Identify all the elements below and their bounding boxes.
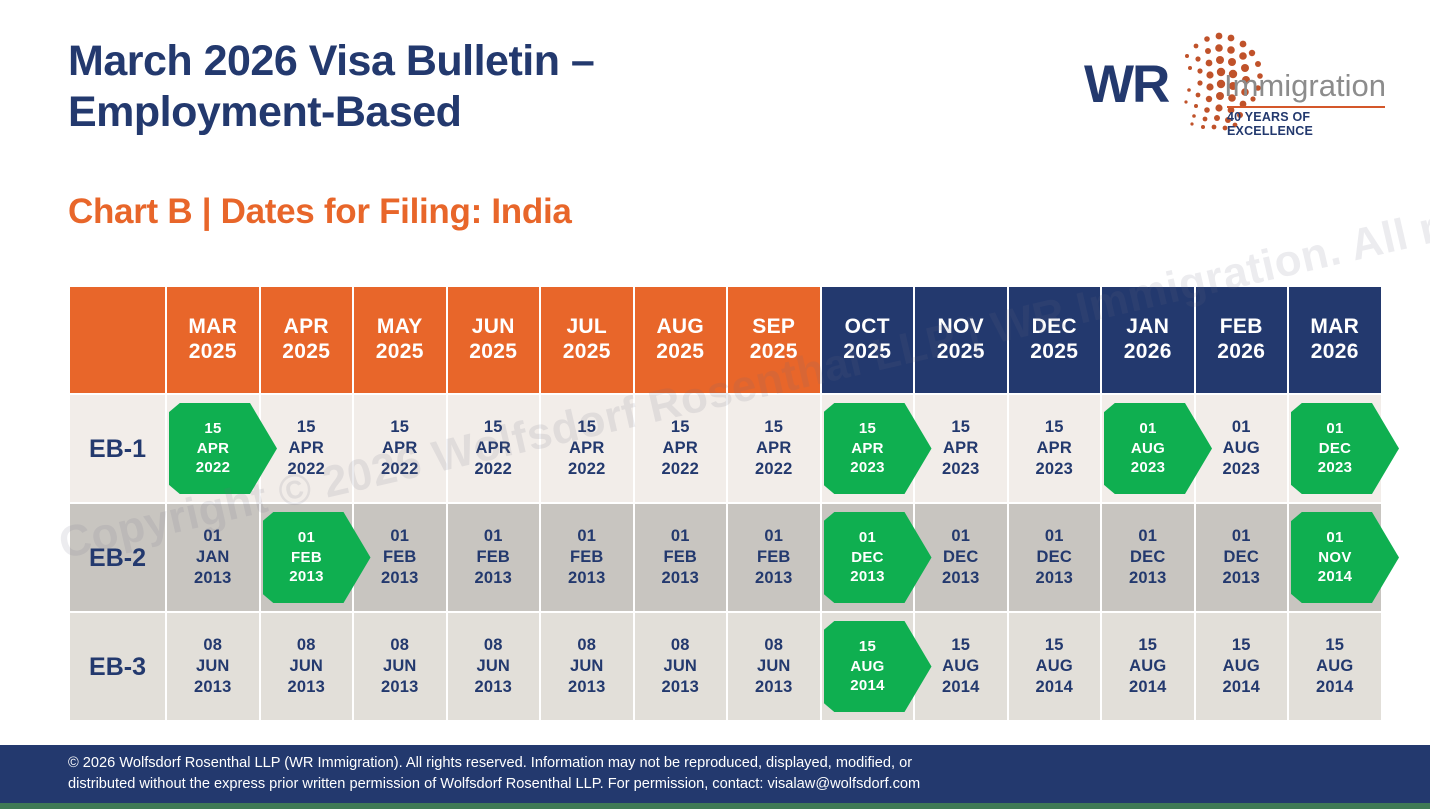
column-header-may-2025[interactable]: MAY2025 — [354, 287, 446, 393]
date-value: 01FEB2013 — [448, 504, 540, 611]
date-day: 15 — [951, 635, 970, 656]
date-day: 15 — [204, 419, 221, 439]
date-year: 2022 — [287, 459, 325, 480]
date-year: 2023 — [1318, 458, 1353, 478]
date-cell[interactable]: 15APR2022 — [728, 395, 820, 502]
date-cell[interactable]: 08JUN2013 — [261, 613, 353, 720]
date-day: 15 — [1325, 635, 1344, 656]
date-value: 15AUG2014 — [1289, 613, 1381, 720]
table-header: MAR2025APR2025MAY2025JUN2025JUL2025AUG20… — [70, 287, 1381, 393]
date-month: FEB — [757, 547, 791, 568]
date-year: 2013 — [194, 677, 232, 698]
date-day: 08 — [297, 635, 316, 656]
column-header-month: MAR — [1289, 315, 1381, 340]
date-cell[interactable]: 01JAN2013 — [167, 504, 259, 611]
date-value: 08JUN2013 — [354, 613, 446, 720]
table-body: EB-115APR202215APR202215APR202215APR2022… — [70, 395, 1381, 720]
date-year: 2014 — [850, 676, 885, 696]
date-day: 08 — [484, 635, 503, 656]
date-year: 2013 — [289, 567, 324, 587]
date-day: 01 — [1232, 417, 1251, 438]
wr-immigration-logo: WR Immigration 40 YEARS OF EXCELLENCE — [1064, 26, 1384, 138]
column-header-feb-2026[interactable]: FEB2026 — [1196, 287, 1288, 393]
column-header-jan-2026[interactable]: JAN2026 — [1102, 287, 1194, 393]
column-header-month: APR — [261, 315, 353, 340]
date-day: 01 — [484, 526, 503, 547]
date-value: 15APR2022 — [354, 395, 446, 502]
column-header-month: NOV — [915, 315, 1007, 340]
date-year: 2014 — [1129, 677, 1167, 698]
date-day: 01 — [1045, 526, 1064, 547]
date-month: JUN — [663, 656, 697, 677]
table-row: EB-201JAN201301FEB201301FEB201301FEB2013… — [70, 504, 1381, 611]
column-header-month: JAN — [1102, 315, 1194, 340]
date-cell[interactable]: 01AUG2023 — [1102, 395, 1194, 502]
date-cell[interactable]: 15APR2022 — [448, 395, 540, 502]
date-year: 2013 — [381, 677, 419, 698]
date-day: 01 — [203, 526, 222, 547]
date-day: 01 — [1326, 419, 1343, 439]
date-day: 01 — [1232, 526, 1251, 547]
date-year: 2023 — [1131, 458, 1166, 478]
date-day: 15 — [951, 417, 970, 438]
date-cell[interactable]: 08JUN2013 — [448, 613, 540, 720]
date-month: AUG — [1223, 438, 1260, 459]
date-year: 2014 — [1222, 677, 1260, 698]
date-year: 2014 — [1318, 567, 1353, 587]
column-header-year: 2026 — [1102, 340, 1194, 365]
date-year: 2022 — [381, 459, 419, 480]
date-cell[interactable]: 15AUG2014 — [822, 613, 914, 720]
date-month: APR — [197, 439, 230, 459]
date-year: 2013 — [661, 677, 699, 698]
table-corner-cell — [70, 287, 165, 393]
date-day: 15 — [764, 417, 783, 438]
date-year: 2013 — [661, 568, 699, 589]
date-value: 15APR2022 — [541, 395, 633, 502]
logo-tagline: 40 YEARS OF EXCELLENCE — [1227, 110, 1384, 138]
row-label-eb-2: EB-2 — [70, 504, 165, 611]
date-value: 01DEC2013 — [1196, 504, 1288, 611]
column-header-month: MAY — [354, 315, 446, 340]
date-year: 2013 — [1129, 568, 1167, 589]
date-day: 01 — [298, 528, 315, 548]
column-header-year: 2025 — [261, 340, 353, 365]
column-header-month: MAR — [167, 315, 259, 340]
date-month: APR — [289, 438, 324, 459]
date-year: 2014 — [1316, 677, 1354, 698]
date-day: 15 — [1232, 635, 1251, 656]
date-month: FEB — [291, 548, 322, 568]
column-header-month: JUN — [448, 315, 540, 340]
advancement-arrow-badge: 01NOV2014 — [1291, 512, 1399, 603]
date-cell[interactable]: 08JUN2013 — [635, 613, 727, 720]
date-year: 2013 — [474, 677, 512, 698]
column-header-apr-2025[interactable]: APR2025 — [261, 287, 353, 393]
column-header-jun-2025[interactable]: JUN2025 — [448, 287, 540, 393]
date-value: 01FEB2013 — [541, 504, 633, 611]
date-value: 01DEC2013 — [1009, 504, 1101, 611]
date-cell[interactable]: 15APR2022 — [167, 395, 259, 502]
date-day: 01 — [390, 526, 409, 547]
date-cell[interactable]: 15AUG2014 — [1196, 613, 1288, 720]
date-value: 15APR2022 — [635, 395, 727, 502]
date-month: AUG — [1036, 656, 1073, 677]
date-cell[interactable]: 15APR2022 — [354, 395, 446, 502]
date-value: 08JUN2013 — [635, 613, 727, 720]
date-month: JUN — [476, 656, 510, 677]
date-cell[interactable]: 01DEC2013 — [1009, 504, 1101, 611]
date-cell[interactable]: 08JUN2013 — [167, 613, 259, 720]
column-header-year: 2025 — [635, 340, 727, 365]
column-header-month: JUL — [541, 315, 633, 340]
date-month: DEC — [1037, 547, 1072, 568]
date-year: 2013 — [568, 568, 606, 589]
date-value: 01DEC2013 — [1102, 504, 1194, 611]
column-header-year: 2026 — [1289, 340, 1381, 365]
date-cell[interactable]: 15AUG2014 — [1009, 613, 1101, 720]
date-cell[interactable]: 08JUN2013 — [728, 613, 820, 720]
row-label-eb-3: EB-3 — [70, 613, 165, 720]
date-day: 01 — [577, 526, 596, 547]
column-header-year: 2025 — [915, 340, 1007, 365]
date-month: AUG — [942, 656, 979, 677]
page-title-line1: March 2026 Visa Bulletin – — [68, 36, 828, 87]
date-day: 01 — [1138, 526, 1157, 547]
date-year: 2013 — [194, 568, 232, 589]
date-value: 08JUN2013 — [448, 613, 540, 720]
date-month: JUN — [570, 656, 604, 677]
date-day: 15 — [1045, 417, 1064, 438]
column-header-aug-2025[interactable]: AUG2025 — [635, 287, 727, 393]
date-cell[interactable]: 01FEB2013 — [541, 504, 633, 611]
date-month: NOV — [1318, 548, 1351, 568]
date-day: 01 — [1326, 528, 1343, 548]
date-year: 2013 — [287, 677, 325, 698]
date-month: JUN — [757, 656, 791, 677]
column-header-year: 2025 — [167, 340, 259, 365]
table-row: EB-115APR202215APR202215APR202215APR2022… — [70, 395, 1381, 502]
column-header-year: 2025 — [448, 340, 540, 365]
date-month: FEB — [383, 547, 417, 568]
date-day: 15 — [1138, 635, 1157, 656]
date-day: 01 — [1139, 419, 1156, 439]
date-value: 01FEB2013 — [635, 504, 727, 611]
column-header-oct-2025[interactable]: OCT2025 — [822, 287, 914, 393]
date-year: 2022 — [661, 459, 699, 480]
page-title: March 2026 Visa Bulletin – Employment-Ba… — [68, 36, 828, 137]
date-year: 2013 — [1035, 568, 1073, 589]
column-header-year: 2026 — [1196, 340, 1288, 365]
date-month: APR — [943, 438, 978, 459]
date-year: 2022 — [196, 458, 231, 478]
column-header-nov-2025[interactable]: NOV2025 — [915, 287, 1007, 393]
date-month: APR — [663, 438, 698, 459]
column-header-month: OCT — [822, 315, 914, 340]
column-header-year: 2025 — [354, 340, 446, 365]
date-value: 15AUG2014 — [1009, 613, 1101, 720]
footer-bar: © 2026 Wolfsdorf Rosenthal LLP (WR Immig… — [0, 745, 1430, 803]
date-year: 2013 — [381, 568, 419, 589]
date-month: APR — [569, 438, 604, 459]
date-cell[interactable]: 08JUN2013 — [541, 613, 633, 720]
logo-wordmark: WR — [1084, 54, 1168, 115]
date-day: 08 — [764, 635, 783, 656]
date-value: 08JUN2013 — [261, 613, 353, 720]
date-cell[interactable]: 01FEB2013 — [635, 504, 727, 611]
date-cell[interactable]: 01FEB2013 — [448, 504, 540, 611]
date-value: 08JUN2013 — [167, 613, 259, 720]
date-month: JUN — [196, 656, 230, 677]
date-year: 2013 — [1222, 568, 1260, 589]
footer-accent-strip — [0, 803, 1430, 809]
column-header-sep-2025[interactable]: SEP2025 — [728, 287, 820, 393]
date-month: APR — [1037, 438, 1072, 459]
table-row: EB-308JUN201308JUN201308JUN201308JUN2013… — [70, 613, 1381, 720]
date-day: 08 — [671, 635, 690, 656]
date-year: 2023 — [942, 459, 980, 480]
date-year: 2013 — [942, 568, 980, 589]
date-value: 15APR2023 — [1009, 395, 1101, 502]
date-cell[interactable]: 15AUG2014 — [1289, 613, 1381, 720]
date-day: 15 — [577, 417, 596, 438]
logo-divider — [1227, 106, 1385, 108]
date-month: APR — [382, 438, 417, 459]
date-month: DEC — [1224, 547, 1259, 568]
date-cell[interactable]: 01DEC2013 — [1196, 504, 1288, 611]
date-year: 2013 — [568, 677, 606, 698]
date-cell[interactable]: 15APR2022 — [635, 395, 727, 502]
date-cell[interactable]: 15APR2023 — [1009, 395, 1101, 502]
date-month: AUG — [1131, 439, 1165, 459]
date-month: AUG — [1316, 656, 1353, 677]
date-value: 01JAN2013 — [167, 504, 259, 611]
date-day: 01 — [951, 526, 970, 547]
date-day: 01 — [764, 526, 783, 547]
date-month: APR — [756, 438, 791, 459]
date-day: 15 — [297, 417, 316, 438]
date-day: 15 — [1045, 635, 1064, 656]
date-year: 2013 — [755, 677, 793, 698]
date-month: DEC — [1130, 547, 1165, 568]
column-header-mar-2025[interactable]: MAR2025 — [167, 287, 259, 393]
date-month: JUN — [289, 656, 323, 677]
page-title-line2: Employment-Based — [68, 87, 828, 138]
date-day: 08 — [203, 635, 222, 656]
logo-name: Immigration — [1224, 68, 1386, 104]
date-day: 08 — [390, 635, 409, 656]
date-year: 2023 — [1035, 459, 1073, 480]
date-cell[interactable]: 01DEC2013 — [822, 504, 914, 611]
date-value: 15AUG2014 — [1196, 613, 1288, 720]
date-cell[interactable]: 15APR2022 — [541, 395, 633, 502]
date-cell[interactable]: 01NOV2014 — [1289, 504, 1381, 611]
column-header-month: FEB — [1196, 315, 1288, 340]
date-year: 2013 — [474, 568, 512, 589]
date-month: JAN — [196, 547, 230, 568]
column-header-jul-2025[interactable]: JUL2025 — [541, 287, 633, 393]
date-day: 15 — [390, 417, 409, 438]
date-cell[interactable]: 15AUG2014 — [1102, 613, 1194, 720]
date-month: DEC — [943, 547, 978, 568]
date-month: FEB — [663, 547, 697, 568]
footer-line-2: distributed without the express prior wr… — [68, 774, 920, 795]
date-value: 15APR2022 — [448, 395, 540, 502]
date-cell[interactable]: 01FEB2013 — [261, 504, 353, 611]
footer-disclaimer: © 2026 Wolfsdorf Rosenthal LLP (WR Immig… — [0, 753, 960, 794]
footer-line-1: © 2026 Wolfsdorf Rosenthal LLP (WR Immig… — [68, 753, 920, 774]
column-header-month: DEC — [1009, 315, 1101, 340]
date-year: 2014 — [942, 677, 980, 698]
column-header-year: 2025 — [541, 340, 633, 365]
date-cell[interactable]: 01FEB2013 — [728, 504, 820, 611]
advancement-arrow-badge: 01DEC2023 — [1291, 403, 1399, 494]
date-year: 2013 — [755, 568, 793, 589]
date-month: FEB — [570, 547, 604, 568]
date-year: 2023 — [1222, 459, 1260, 480]
date-month: AUG — [1129, 656, 1166, 677]
date-month: APR — [851, 439, 884, 459]
date-month: AUG — [850, 657, 884, 677]
date-month: JUN — [383, 656, 417, 677]
visa-bulletin-table: MAR2025APR2025MAY2025JUN2025JUL2025AUG20… — [68, 285, 1383, 722]
date-value: 01FEB2013 — [728, 504, 820, 611]
column-header-year: 2025 — [822, 340, 914, 365]
column-header-month: SEP — [728, 315, 820, 340]
date-cell[interactable]: 15APR2023 — [822, 395, 914, 502]
date-day: 15 — [859, 637, 876, 657]
date-year: 2022 — [755, 459, 793, 480]
row-label-eb-1: EB-1 — [70, 395, 165, 502]
date-year: 2023 — [850, 458, 885, 478]
column-header-year: 2025 — [728, 340, 820, 365]
date-month: FEB — [476, 547, 510, 568]
date-month: APR — [476, 438, 511, 459]
date-month: DEC — [851, 548, 884, 568]
date-year: 2013 — [850, 567, 885, 587]
date-year: 2014 — [1035, 677, 1073, 698]
date-day: 01 — [671, 526, 690, 547]
date-cell[interactable]: 08JUN2013 — [354, 613, 446, 720]
column-header-year: 2025 — [1009, 340, 1101, 365]
date-day: 15 — [484, 417, 503, 438]
column-header-mar-2026[interactable]: MAR2026 — [1289, 287, 1381, 393]
date-cell[interactable]: 01DEC2013 — [1102, 504, 1194, 611]
date-day: 01 — [859, 528, 876, 548]
date-month: DEC — [1319, 439, 1352, 459]
date-day: 15 — [671, 417, 690, 438]
date-day: 15 — [859, 419, 876, 439]
date-value: 08JUN2013 — [541, 613, 633, 720]
date-year: 2022 — [474, 459, 512, 480]
date-day: 08 — [577, 635, 596, 656]
date-value: 15AUG2014 — [1102, 613, 1194, 720]
date-cell[interactable]: 01DEC2023 — [1289, 395, 1381, 502]
column-header-month: AUG — [635, 315, 727, 340]
chart-subtitle: Chart B | Dates for Filing: India — [68, 192, 572, 232]
date-value: 08JUN2013 — [728, 613, 820, 720]
table-header-row: MAR2025APR2025MAY2025JUN2025JUL2025AUG20… — [70, 287, 1381, 393]
date-year: 2022 — [568, 459, 606, 480]
visa-bulletin-table-wrapper: MAR2025APR2025MAY2025JUN2025JUL2025AUG20… — [68, 285, 1359, 713]
date-value: 15APR2022 — [728, 395, 820, 502]
date-month: AUG — [1223, 656, 1260, 677]
column-header-dec-2025[interactable]: DEC2025 — [1009, 287, 1101, 393]
